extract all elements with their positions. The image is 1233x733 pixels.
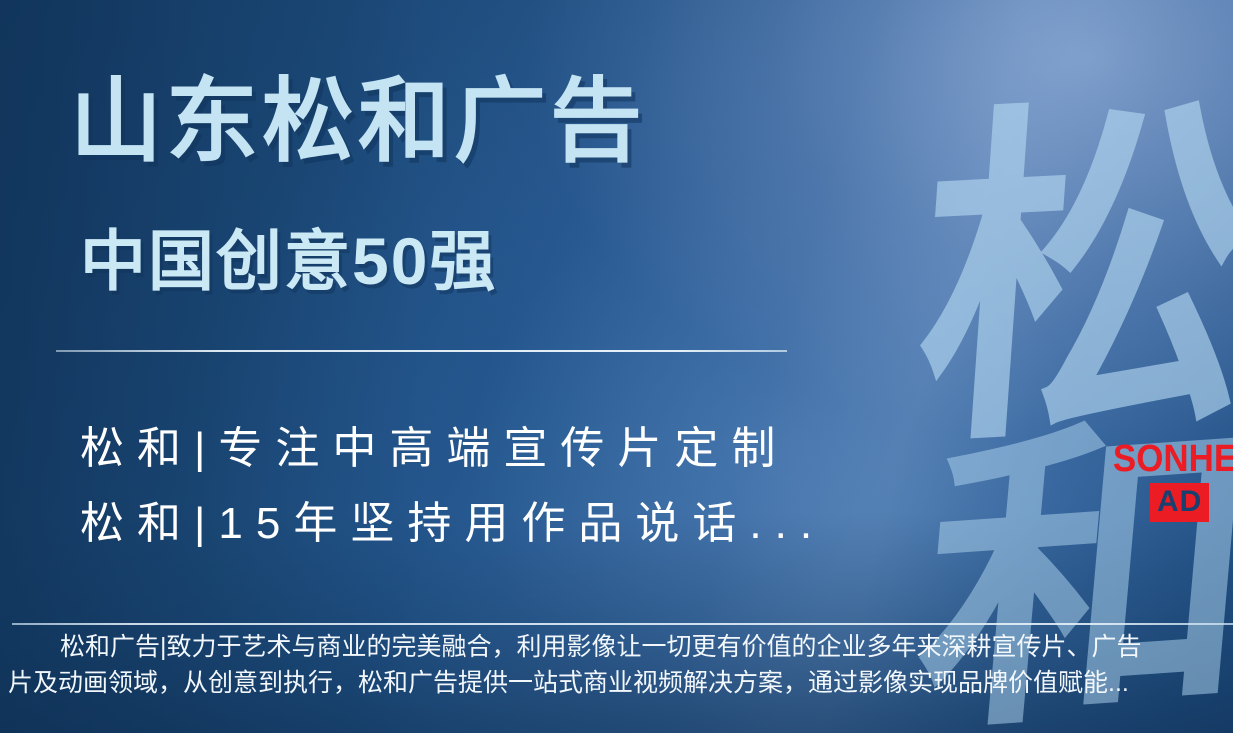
divider-upper xyxy=(56,350,787,352)
page-title: 山东松和广告 xyxy=(70,76,646,168)
tagline-secondary: 松和|15年坚持用作品说话... xyxy=(80,502,825,546)
divider-lower xyxy=(12,623,1233,625)
brand-lockup: SONHE AD xyxy=(1100,441,1233,522)
brand-ad-badge: AD xyxy=(1150,483,1209,522)
description-line-2: 片及动画领域，从创意到执行，松和广告提供一站式商业视频解决方案，通过影像实现品牌… xyxy=(8,666,1233,702)
description-line-1: 松和广告|致力于艺术与商业的完美融合，利用影像让一切更有价值的企业多年来深耕宣传… xyxy=(8,630,1233,666)
page-subtitle: 中国创意50强 xyxy=(80,228,497,294)
company-description: 松和广告|致力于艺术与商业的完美融合，利用影像让一切更有价值的企业多年来深耕宣传… xyxy=(8,630,1233,701)
tagline-primary: 松和|专注中高端宣传片定制 xyxy=(80,427,788,471)
poster-canvas: 松 和 山东松和广告 中国创意50强 松和|专注中高端宣传片定制 松和|15年坚… xyxy=(0,0,1233,733)
brand-wordmark: SONHE xyxy=(1100,441,1222,477)
calligraphy-watermark-song-icon: 松 xyxy=(907,98,1233,467)
